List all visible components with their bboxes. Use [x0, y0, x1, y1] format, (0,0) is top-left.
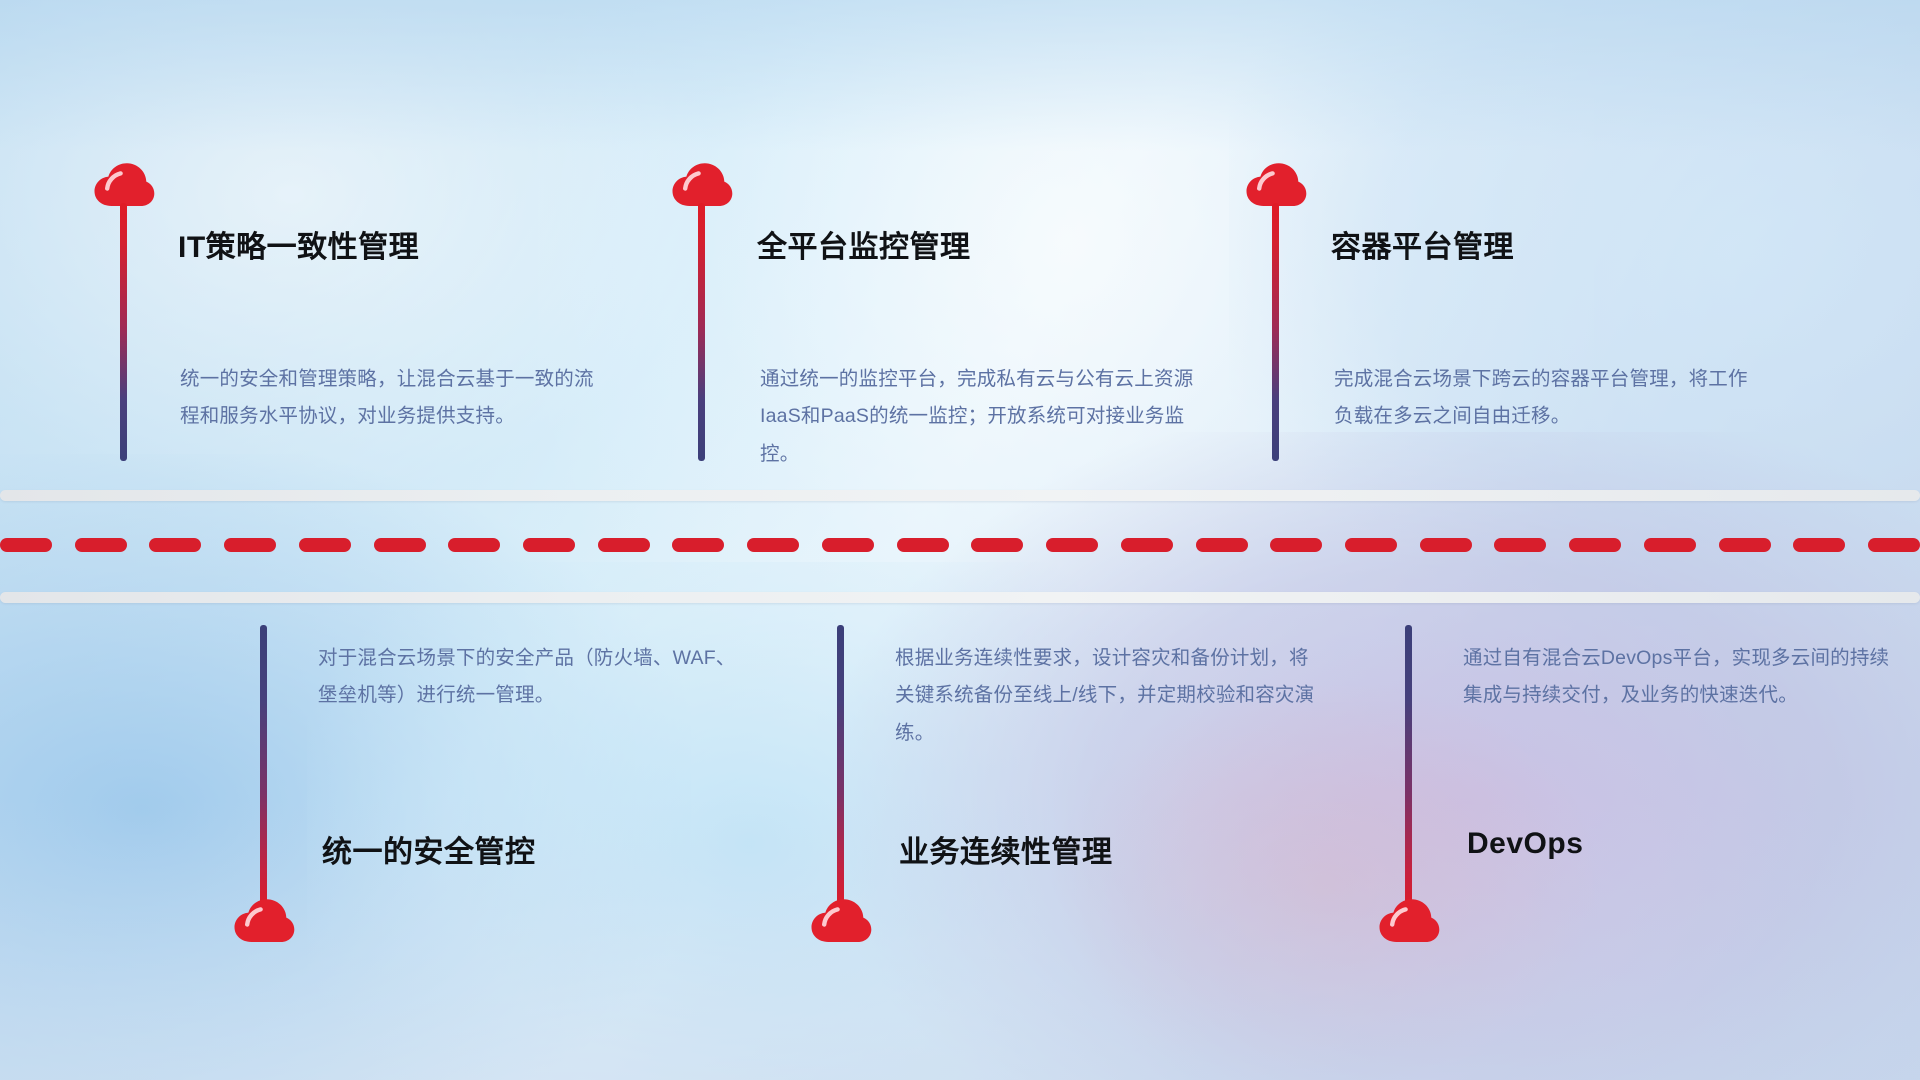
road-dash: [1270, 538, 1322, 552]
card-body: 对于混合云场景下的安全产品（防火墙、WAF、堡垒机等）进行统一管理。: [318, 640, 738, 715]
card-title: IT策略一致性管理: [178, 222, 419, 266]
road-dash: [1644, 538, 1696, 552]
road-dash: [1569, 538, 1621, 552]
cloud-icon: [93, 162, 155, 208]
cloud-icon: [671, 162, 733, 208]
road-dash: [897, 538, 949, 552]
connector-line: [260, 625, 267, 915]
cloud-icon: [233, 898, 295, 944]
connector-line: [120, 203, 127, 461]
road-dash: [75, 538, 127, 552]
road-edge-top: [0, 490, 1920, 501]
road-dash: [523, 538, 575, 552]
road-edge-bottom: [0, 592, 1920, 603]
card-title: 全平台监控管理: [757, 222, 971, 266]
card-title: 统一的安全管控: [322, 827, 536, 871]
road-dash: [598, 538, 650, 552]
road-dash: [1868, 538, 1920, 552]
road-dash: [1719, 538, 1771, 552]
card-body: 完成混合云场景下跨云的容器平台管理，将工作负载在多云之间自由迁移。: [1334, 361, 1764, 436]
card-title: DevOps: [1467, 827, 1583, 861]
connector-line: [698, 203, 705, 461]
road-dash: [448, 538, 500, 552]
connector-line: [1272, 203, 1279, 461]
card-body: 根据业务连续性要求，设计容灾和备份计划，将关键系统备份至线上/线下，并定期校验和…: [895, 640, 1325, 752]
connector-line: [837, 625, 844, 915]
road-dash: [374, 538, 426, 552]
cloud-icon: [1245, 162, 1307, 208]
road-dash: [1420, 538, 1472, 552]
road-dash: [1793, 538, 1845, 552]
card-body: 通过统一的监控平台，完成私有云与公有云上资源IaaS和PaaS的统一监控；开放系…: [760, 361, 1200, 473]
road-dash: [672, 538, 724, 552]
background-top-fade: [0, 0, 1920, 151]
card-title: 业务连续性管理: [899, 827, 1113, 871]
road-dash: [1345, 538, 1397, 552]
cloud-icon: [810, 898, 872, 944]
road-dash: [1196, 538, 1248, 552]
road-dash: [822, 538, 874, 552]
connector-line: [1405, 625, 1412, 915]
road-dash: [1494, 538, 1546, 552]
road-center-dashes: [0, 538, 1920, 552]
infographic-canvas: IT策略一致性管理 统一的安全和管理策略，让混合云基于一致的流程和服务水平协议，…: [0, 0, 1920, 1080]
road-dash: [1046, 538, 1098, 552]
road-dash: [0, 538, 52, 552]
road-dash: [971, 538, 1023, 552]
card-body: 统一的安全和管理策略，让混合云基于一致的流程和服务水平协议，对业务提供支持。: [180, 361, 600, 436]
road-dash: [1121, 538, 1173, 552]
road-dash: [149, 538, 201, 552]
cloud-icon: [1378, 898, 1440, 944]
road-dash: [299, 538, 351, 552]
road-dash: [224, 538, 276, 552]
card-body: 通过自有混合云DevOps平台，实现多云间的持续集成与持续交付，及业务的快速迭代…: [1463, 640, 1893, 715]
card-title: 容器平台管理: [1331, 222, 1514, 266]
road-dash: [747, 538, 799, 552]
